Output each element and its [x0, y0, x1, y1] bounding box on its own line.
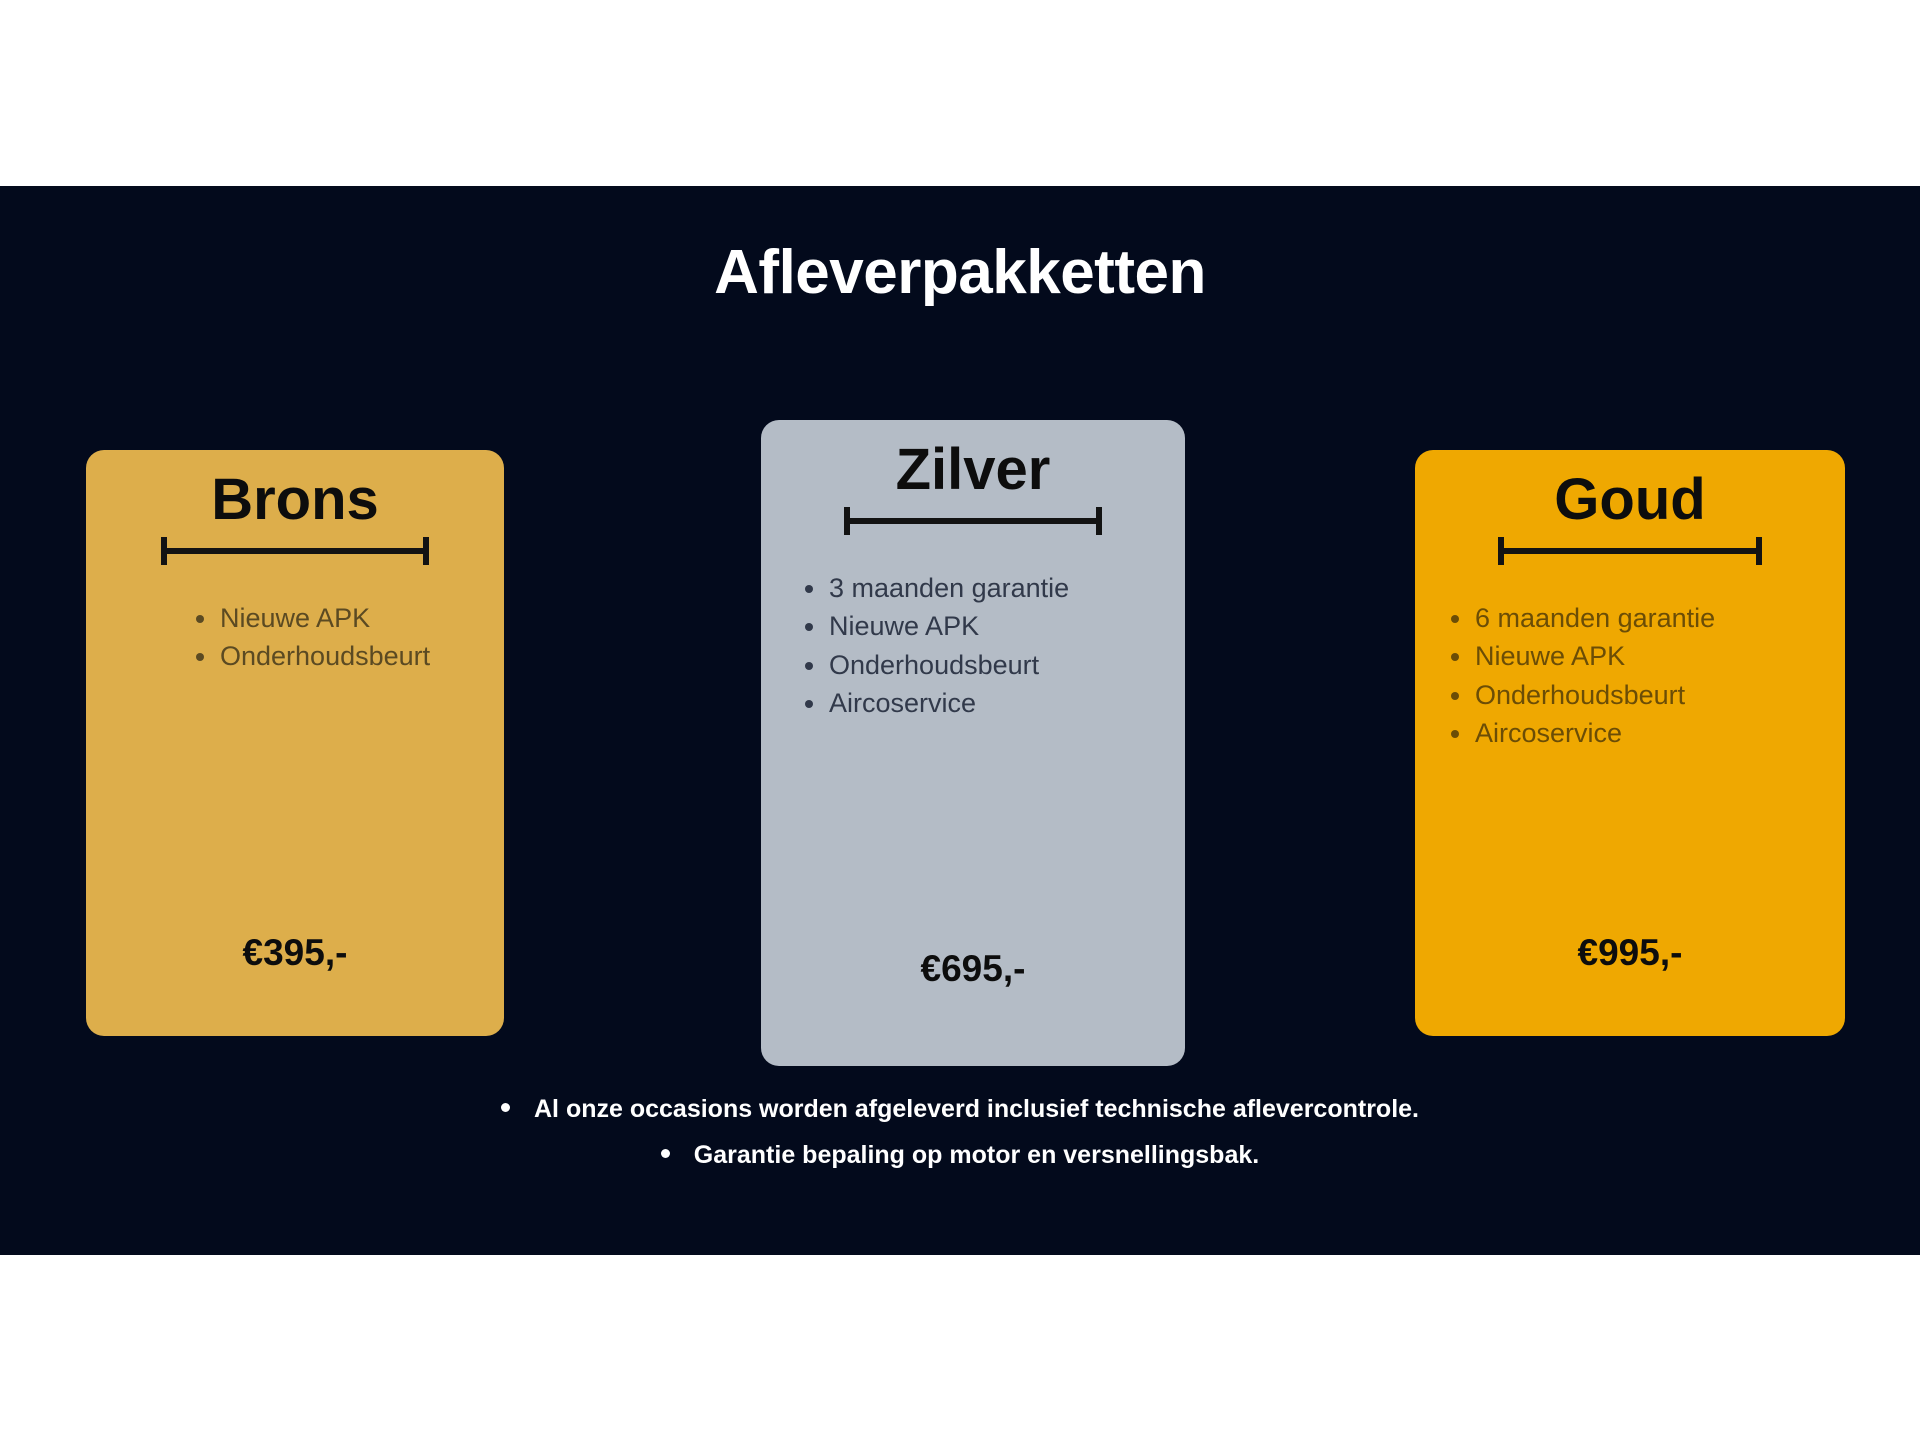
pricing-card-zilver[interactable]: Zilver 3 maanden garantie Nieuwe APK Ond… [761, 420, 1185, 1066]
dimension-line-icon-brons [161, 537, 429, 563]
dimension-cap-right-icon [423, 537, 429, 565]
feature-list-zilver: 3 maanden garantie Nieuwe APK Onderhouds… [791, 569, 1069, 722]
price-zilver: €695,- [761, 948, 1185, 990]
card-title-zilver: Zilver [896, 440, 1051, 501]
slide-content: Afleverpakketten Brons Nieuwe APK Onderh… [0, 186, 1920, 1255]
feature-list-brons: Nieuwe APK Onderhoudsbeurt [182, 599, 430, 676]
footer-notes: Al onze occasions worden afgeleverd incl… [0, 1086, 1920, 1179]
list-item: Onderhoudsbeurt [791, 646, 1069, 684]
list-item: Nieuwe APK [1437, 637, 1715, 675]
dimension-bar-icon [1498, 548, 1762, 554]
dimension-line-icon-zilver [844, 507, 1102, 533]
list-item: Aircoservice [791, 684, 1069, 722]
pricing-card-brons[interactable]: Brons Nieuwe APK Onderhoudsbeurt €395,- [86, 450, 504, 1036]
footer-note: Al onze occasions worden afgeleverd incl… [0, 1086, 1920, 1132]
list-item: Nieuwe APK [791, 607, 1069, 645]
list-item: Aircoservice [1437, 714, 1715, 752]
feature-list-goud: 6 maanden garantie Nieuwe APK Onderhouds… [1437, 599, 1715, 752]
dimension-bar-icon [844, 518, 1102, 524]
slide-stage: Afleverpakketten Brons Nieuwe APK Onderh… [0, 0, 1920, 1440]
dimension-bar-icon [161, 548, 429, 554]
card-title-brons: Brons [211, 470, 379, 531]
dimension-cap-right-icon [1096, 507, 1102, 535]
card-title-goud: Goud [1554, 470, 1705, 531]
footer-note: Garantie bepaling op motor en versnellin… [0, 1132, 1920, 1178]
bullet-dot-icon [501, 1103, 510, 1112]
price-goud: €995,- [1415, 932, 1845, 974]
dimension-cap-right-icon [1756, 537, 1762, 565]
pricing-card-goud[interactable]: Goud 6 maanden garantie Nieuwe APK Onder… [1415, 450, 1845, 1036]
list-item: 6 maanden garantie [1437, 599, 1715, 637]
list-item: Onderhoudsbeurt [1437, 676, 1715, 714]
footer-note-text: Al onze occasions worden afgeleverd incl… [534, 1095, 1419, 1123]
footer-note-text: Garantie bepaling op motor en versnellin… [694, 1141, 1259, 1169]
bullet-dot-icon [661, 1149, 670, 1158]
price-brons: €395,- [86, 932, 504, 974]
list-item: Onderhoudsbeurt [182, 637, 430, 675]
list-item: Nieuwe APK [182, 599, 430, 637]
list-item: 3 maanden garantie [791, 569, 1069, 607]
dimension-line-icon-goud [1498, 537, 1762, 563]
